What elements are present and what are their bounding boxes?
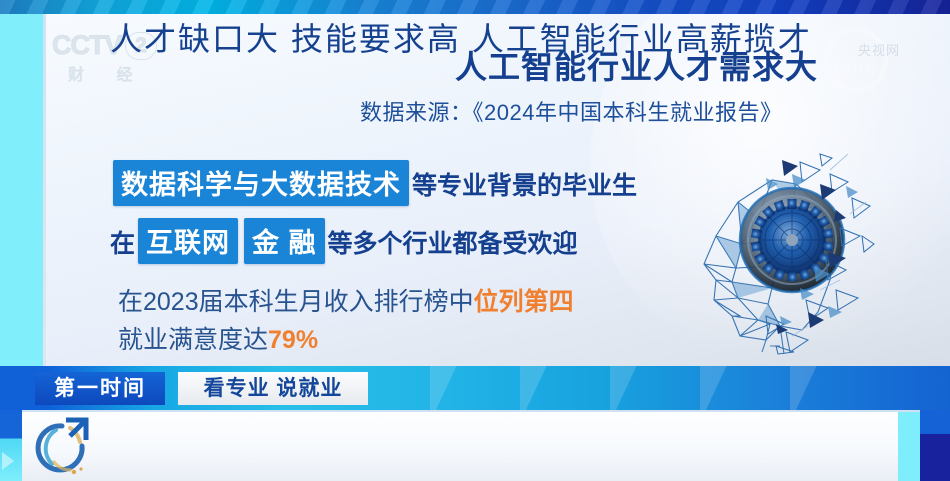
broadcast-screen: CCTV2 财 经 央视网 com 人工智能行业人才需求大 数据来源：《2024… [0,0,950,481]
top-gradient-strip [0,0,950,14]
watermark-com-text: com [834,56,876,80]
ai-head-gear-icon [680,140,910,355]
segment-topic-tag: 看专业 说就业 [178,372,368,405]
ticker-headline: 人才缺口大 技能要求高 人工智能行业高薪揽才 [110,14,812,60]
cctv-channel-subtitle: 财 经 [68,61,182,85]
statement-line-1: 数据科学与大数据技术等专业背景的毕业生 [110,160,637,206]
highlight-industry-finance: 金 融 [244,218,325,264]
statement-2-prefix: 在 [110,230,135,258]
statement-3-text: 在2023届本科生月收入排行榜中 [118,288,474,316]
ticker-cyan-accent [898,412,920,481]
news-ticker-bar [22,410,920,481]
program-swoosh-icon [30,416,104,478]
statement-line-2: 在互联网金 融等多个行业都备受欢迎 [110,218,578,264]
statement-2-rest: 等多个行业都备受欢迎 [328,230,578,258]
statement-3-emphasis-rank: 位列第四 [474,288,574,316]
statement-line-3: 在2023届本科生月收入排行榜中位列第四 [118,282,574,318]
ticker-right-accent-block [920,410,950,481]
program-name-tag: 第一时间 [35,372,165,405]
statement-1-rest: 等专业背景的毕业生 [412,172,637,200]
highlight-industry-internet: 互联网 [138,218,238,264]
ticker-left-triangle-icon [2,452,14,470]
statement-4-text: 就业满意度达 [118,326,268,354]
cctv-web-watermark: 央视网 com [824,26,936,88]
highlight-major-data-science: 数据科学与大数据技术 [113,160,409,206]
data-source-line: 数据来源：《2024年中国本科生就业报告》 [360,95,782,127]
left-cyan-bar [0,14,43,366]
statement-line-4: 就业满意度达79% [118,320,318,356]
statement-4-emphasis-percent: 79% [268,326,318,354]
ticker-left-accent-block [0,410,22,481]
